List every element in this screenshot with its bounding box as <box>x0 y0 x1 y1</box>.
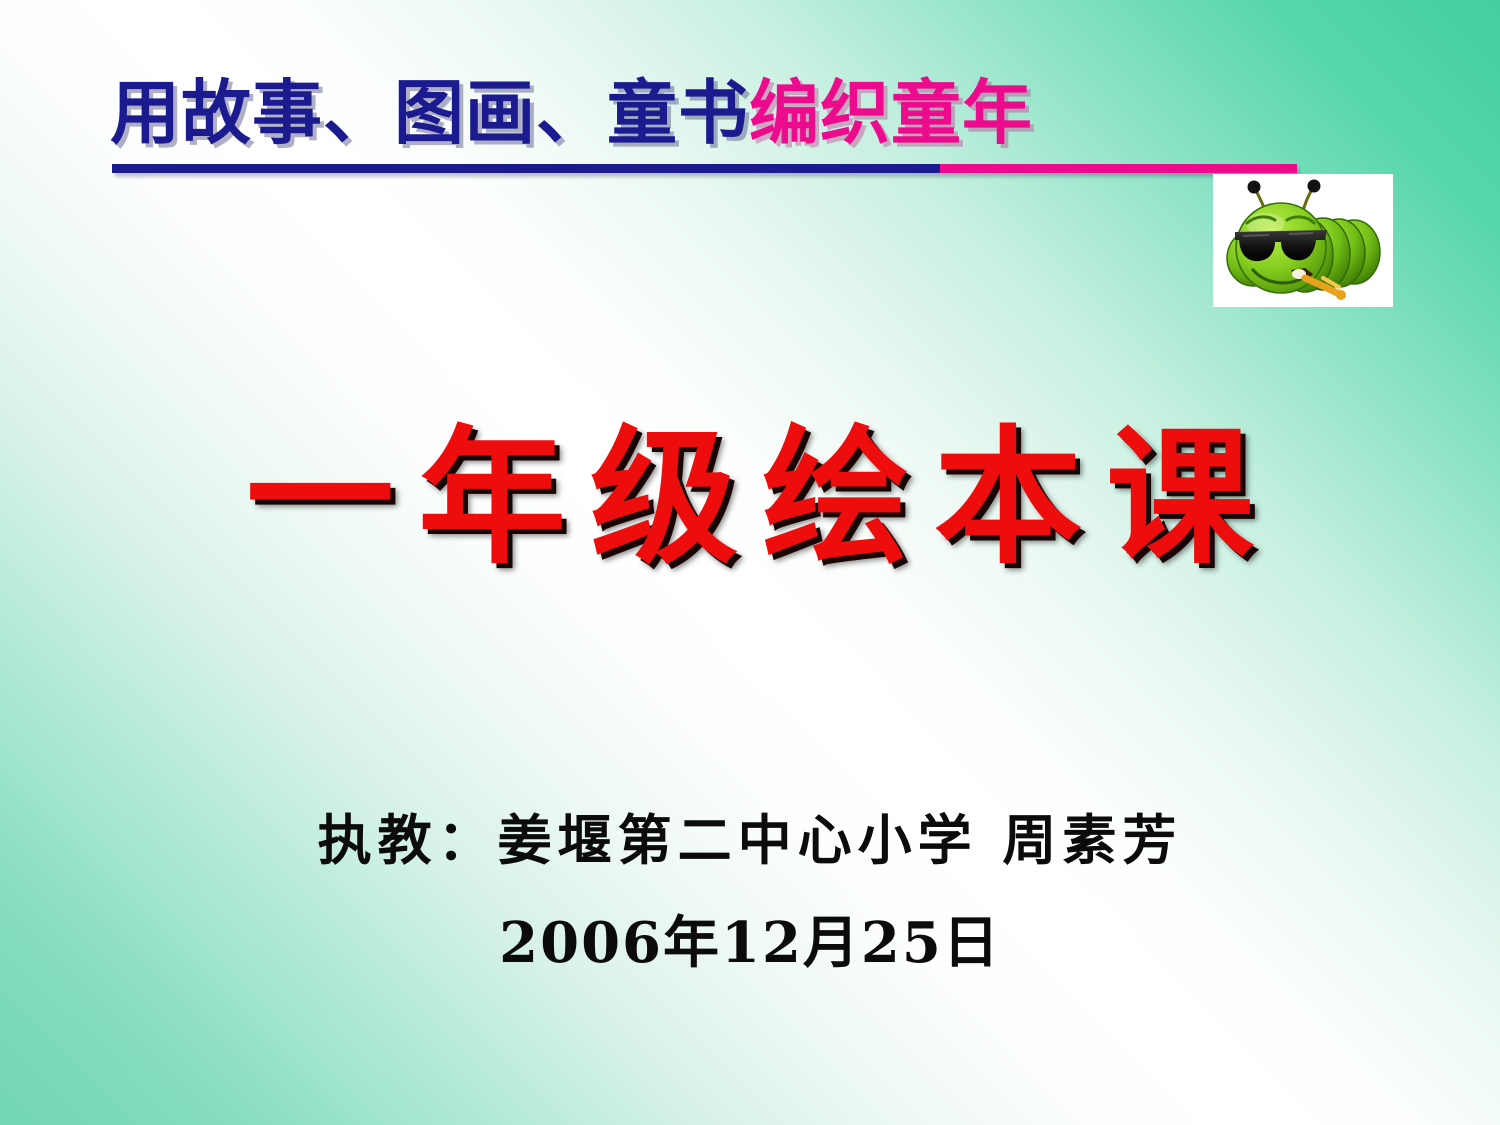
heading-segment-magenta: 编织童年 <box>749 72 1033 154</box>
presenter-line: 执教：姜堰第二中心小学 周素芳 <box>0 796 1500 875</box>
slide-heading: 用故事、图画、童书编织童年 <box>110 78 1310 148</box>
main-title: 一年级绘本课 <box>0 418 1500 578</box>
heading-underline <box>112 164 1297 173</box>
date-line: 2006年12月25日 <box>0 898 1500 979</box>
heading-underline-navy <box>112 164 940 173</box>
presentation-slide: 用故事、图画、童书编织童年 <box>0 0 1500 1125</box>
heading-underline-magenta <box>940 164 1297 173</box>
caterpillar-icon <box>1213 174 1393 307</box>
heading-segment-navy: 用故事、图画、童书 <box>110 72 749 154</box>
